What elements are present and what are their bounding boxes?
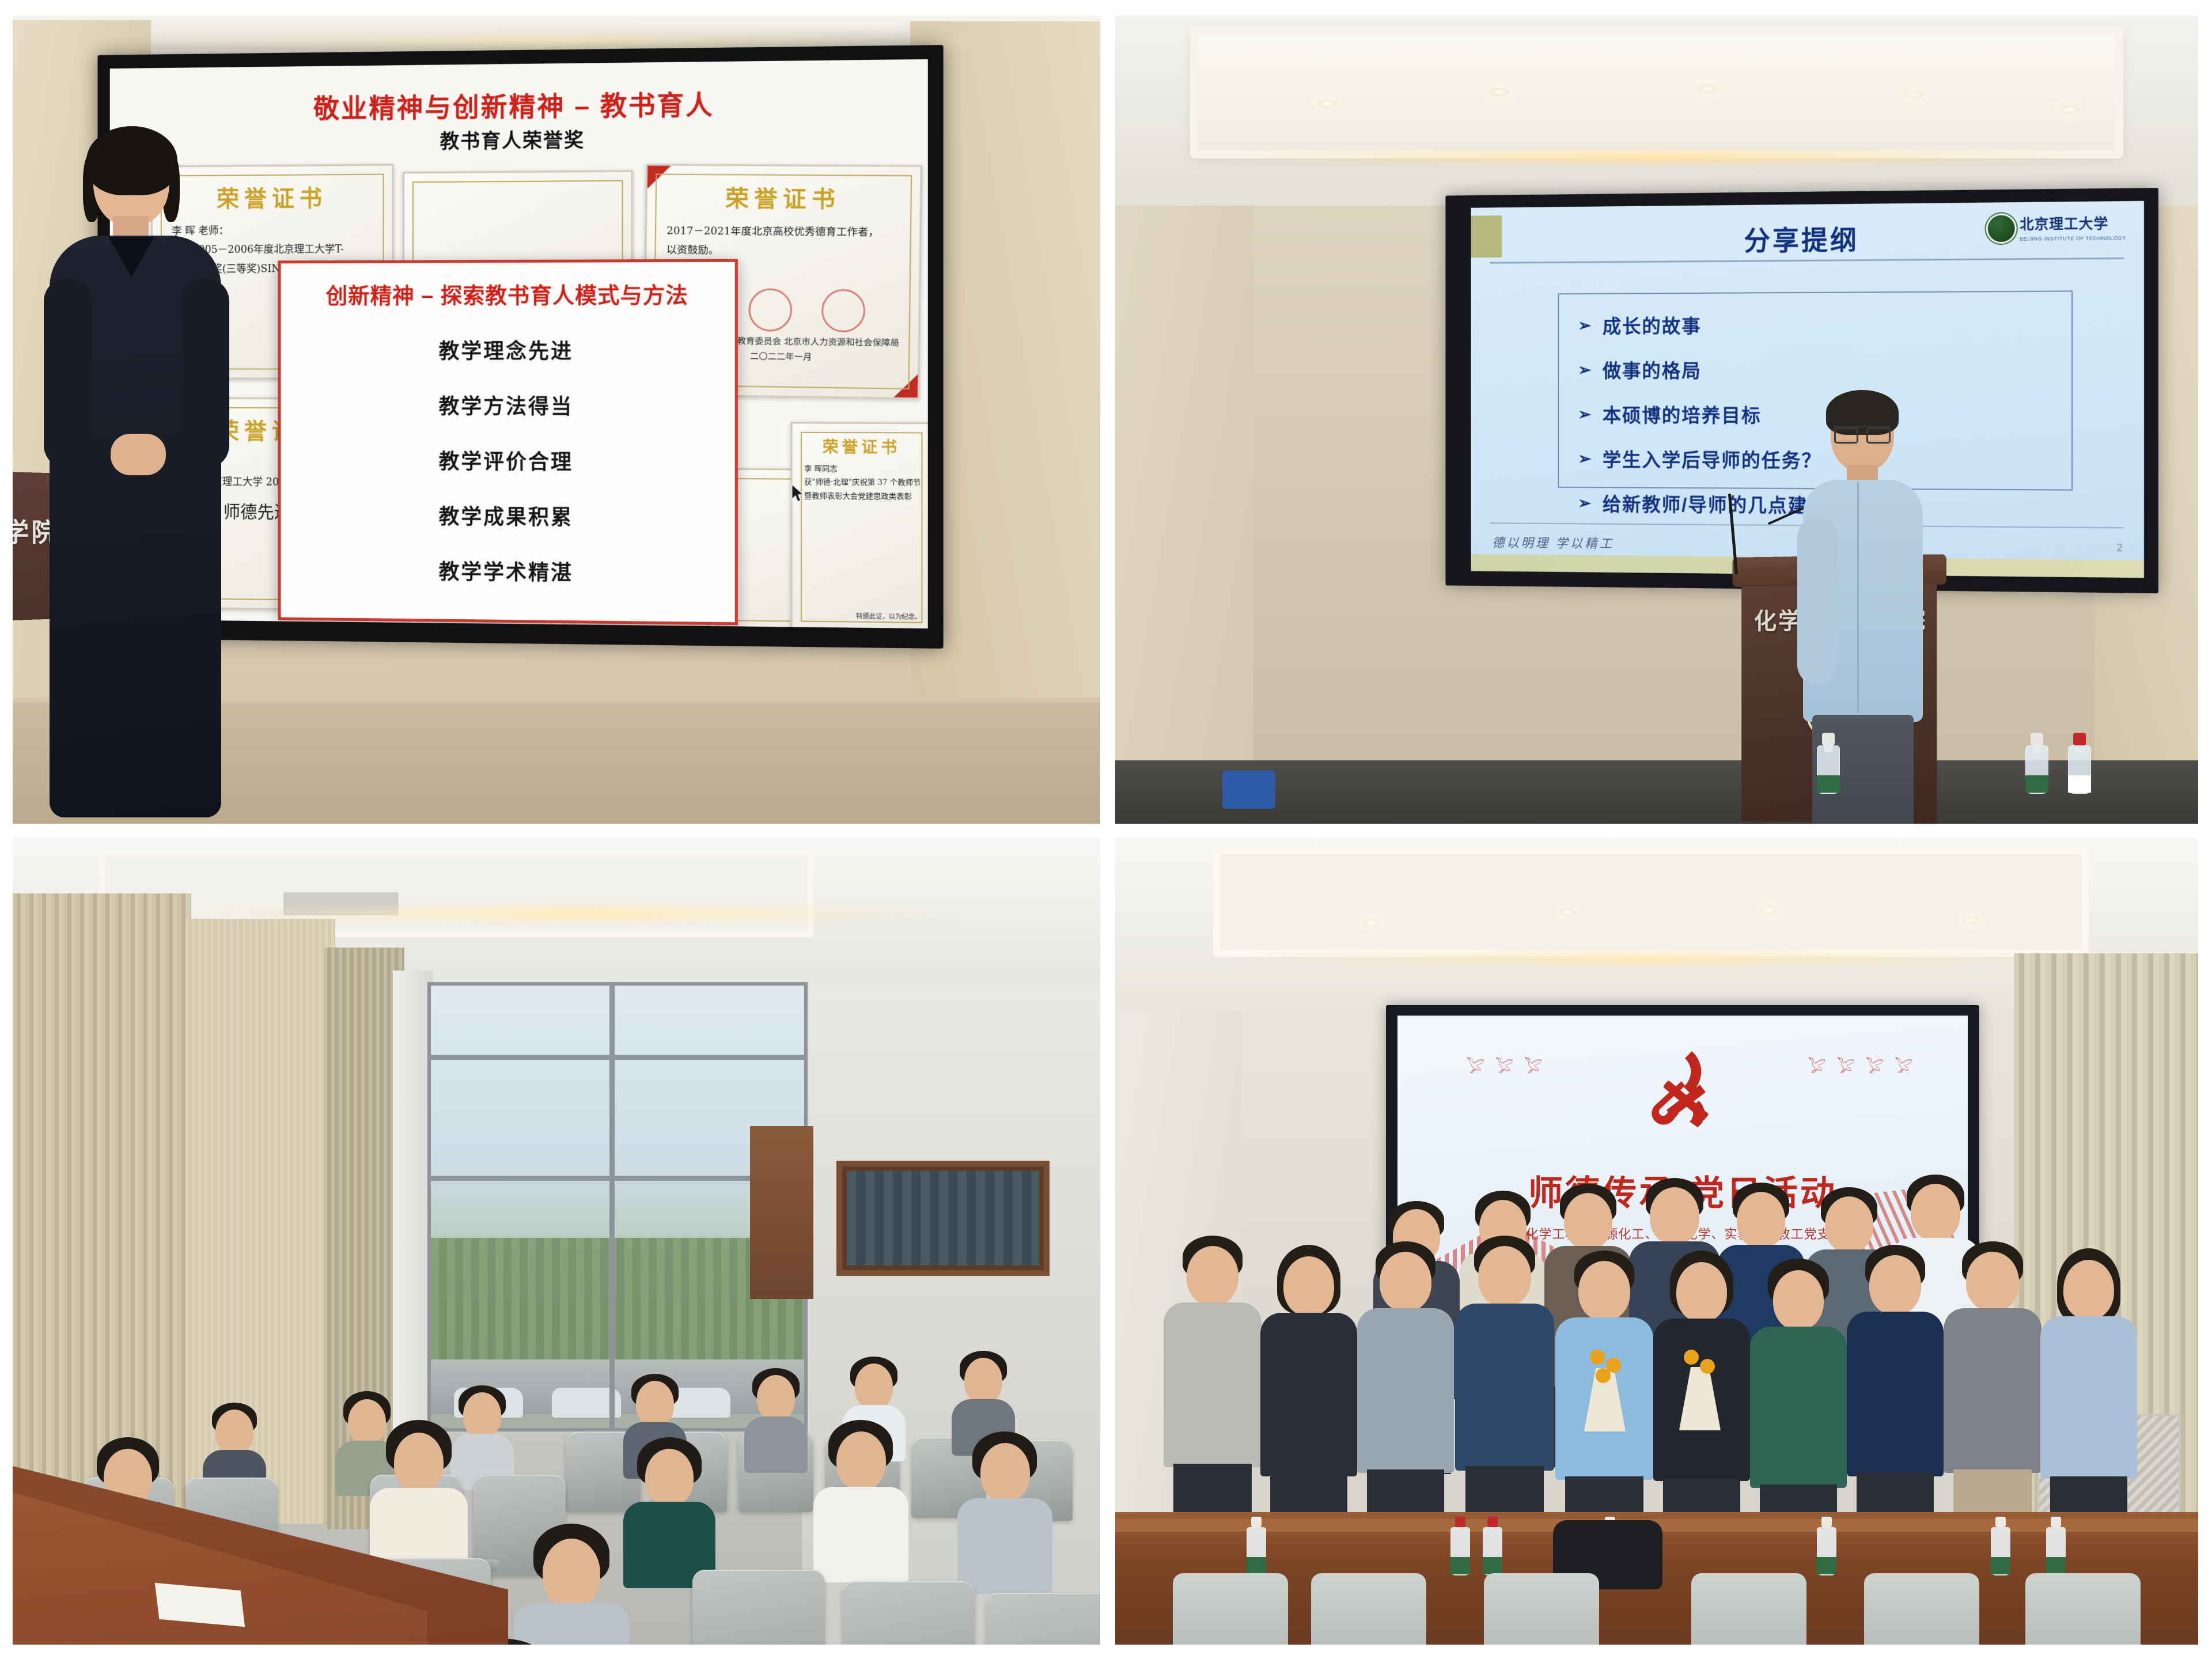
certificate-body: 2017－2021年度北京高校优秀德育工作者， 以资鼓励。 bbox=[666, 221, 904, 262]
head bbox=[1478, 1246, 1531, 1307]
university-badge-icon bbox=[1988, 215, 2015, 242]
head bbox=[980, 1443, 1030, 1502]
photo-panel-bottom-right: 𓅯 𓅯 𓅯 𓅯 𓅯 𓅯 𓅯 师德传承·党日活动 —— bbox=[1115, 838, 2198, 1645]
arrow-bullet-icon: ➢ bbox=[1578, 493, 1592, 512]
cove-light bbox=[203, 907, 963, 920]
head bbox=[543, 1539, 600, 1608]
bottle-label bbox=[1483, 1557, 1502, 1574]
certificate-image: 荣誉证书 李 晖同志 获"师德·北理"庆祝第 37 个教师节 暨教师表彰大会党建… bbox=[791, 422, 928, 628]
arm bbox=[44, 278, 92, 468]
water-bottle bbox=[1991, 1513, 2010, 1575]
glasses-icon bbox=[1834, 426, 1891, 438]
slide-subtitle: 教书育人荣誉奖 bbox=[110, 122, 928, 157]
certificate-title: 荣誉证书 bbox=[793, 434, 928, 457]
head bbox=[1676, 1262, 1727, 1322]
torso bbox=[1164, 1302, 1262, 1467]
torso bbox=[1750, 1327, 1847, 1488]
water-bottle bbox=[1817, 1513, 1836, 1575]
outline-item-label: 本硕博的培养目标 bbox=[1603, 400, 1762, 428]
bouquet bbox=[1570, 1345, 1639, 1431]
outline-item-label: 学生入学后导师的任务？ bbox=[1603, 445, 1822, 473]
dove-motif-icon: 𓅯 𓅯 𓅯 bbox=[1467, 1054, 1546, 1078]
hands bbox=[111, 434, 166, 475]
group-member bbox=[1164, 1236, 1262, 1558]
torso bbox=[2040, 1316, 2137, 1479]
arrow-bullet-icon: ➢ bbox=[1578, 404, 1592, 423]
door[interactable] bbox=[750, 1126, 813, 1299]
party-emblem-icon bbox=[1637, 1046, 1729, 1146]
torso bbox=[1260, 1313, 1357, 1476]
logo-name: 北京理工大学 bbox=[2020, 211, 2126, 233]
overlay-heading: 创新精神 – 探索教书育人模式与方法 bbox=[281, 277, 734, 310]
water-bottle bbox=[1247, 1513, 1266, 1575]
downlight-icon bbox=[1697, 85, 1717, 93]
arrow-bullet-icon: ➢ bbox=[1578, 360, 1592, 379]
head bbox=[1966, 1252, 2019, 1312]
shirt-placket bbox=[1857, 482, 1859, 713]
bottle-cap bbox=[1821, 1517, 1832, 1527]
bottle-label bbox=[2046, 1557, 2066, 1574]
flower-icon bbox=[1700, 1359, 1715, 1374]
certificate-line: 2017－2021年度北京高校优秀德育工作者， bbox=[666, 221, 904, 243]
speaker-person bbox=[40, 134, 230, 824]
mouse-pointer-icon bbox=[791, 484, 806, 504]
head bbox=[2063, 1260, 2114, 1320]
led-display-screen: 敬业精神与创新精神 – 教书育人 教书育人荣誉奖 荣誉证书 李 晖 老师： 荣获… bbox=[110, 59, 928, 628]
bouquet-wrapper bbox=[1679, 1367, 1721, 1430]
slide-overlay-box: 创新精神 – 探索教书育人模式与方法 教学理念先进 教学方法得当 教学评价合理 … bbox=[278, 259, 738, 626]
overlay-item: 教学评价合理 bbox=[281, 444, 734, 476]
certificate-border bbox=[801, 432, 923, 623]
university-logo: 北京理工大学 BEIJING INSTITUTE OF TECHNOLOGY bbox=[1988, 211, 2126, 244]
overlay-item: 教学学术精湛 bbox=[281, 554, 734, 588]
downlight-icon bbox=[1490, 88, 1509, 96]
certificate-line: 获"师德·北理"庆祝第 37 个教师节 bbox=[804, 476, 921, 490]
attendee bbox=[370, 1420, 468, 1581]
head bbox=[757, 1375, 795, 1421]
bottle-cap bbox=[2031, 733, 2043, 745]
bottle-cap bbox=[1455, 1517, 1465, 1527]
meeting-chair[interactable] bbox=[1484, 1573, 1599, 1645]
overlay-item: 教学方法得当 bbox=[281, 389, 734, 421]
overlay-item: 教学成果积累 bbox=[281, 499, 734, 532]
bottle-cap bbox=[1822, 733, 1835, 745]
downlight-icon bbox=[1559, 908, 1576, 916]
bottle-label bbox=[1450, 1557, 1470, 1574]
bulletin-board bbox=[836, 1161, 1050, 1276]
bottle-cap bbox=[2051, 1517, 2061, 1527]
bottle-label bbox=[1247, 1557, 1266, 1574]
slide-page-number: 2 bbox=[2116, 542, 2122, 554]
attendee bbox=[957, 1431, 1052, 1593]
water-bottle bbox=[1450, 1513, 1470, 1575]
chair-back bbox=[1222, 771, 1275, 809]
outline-item: ➢ 做事的格局 bbox=[1578, 355, 2071, 383]
outline-item-label: 成长的故事 bbox=[1603, 311, 1702, 339]
photo-panel-top-left: 敬业精神与创新精神 – 教书育人 教书育人荣誉奖 荣誉证书 李 晖 老师： 荣获… bbox=[13, 16, 1100, 824]
hair bbox=[86, 126, 177, 195]
auditorium-seat[interactable] bbox=[842, 1581, 975, 1645]
water-bottle bbox=[2068, 732, 2091, 794]
head bbox=[463, 1392, 501, 1438]
head bbox=[636, 1381, 674, 1427]
bottle-cap bbox=[1487, 1517, 1498, 1527]
downlight-icon bbox=[1363, 919, 1380, 926]
certificate-footer: 特颁此证，以为纪念。 bbox=[856, 612, 921, 623]
attendee bbox=[813, 1420, 908, 1581]
meeting-chair[interactable] bbox=[1311, 1573, 1426, 1645]
bottle-label bbox=[1817, 775, 1840, 793]
photo-panel-top-right: 分享提纲 北京理工大学 BEIJING INSTITUTE OF TECHNOL… bbox=[1115, 16, 2198, 824]
downlight-icon bbox=[1760, 906, 1778, 914]
certificate-title: 荣誉证书 bbox=[647, 180, 920, 215]
cove-light bbox=[1225, 953, 2077, 965]
meeting-chair[interactable] bbox=[1691, 1573, 1806, 1645]
head bbox=[1737, 1192, 1785, 1248]
water-bottle bbox=[2046, 1513, 2066, 1575]
photo-collage: 敬业精神与创新精神 – 教书育人 教书育人荣誉奖 荣誉证书 李 晖 老师： 荣获… bbox=[0, 0, 2212, 1659]
head bbox=[1564, 1193, 1612, 1249]
bottle-label bbox=[2025, 775, 2048, 793]
head bbox=[215, 1410, 253, 1455]
bottle-label bbox=[1991, 1557, 2010, 1574]
certificate-line: 李 晖同志 bbox=[804, 462, 921, 476]
flower-icon bbox=[1590, 1350, 1605, 1365]
attendee bbox=[744, 1368, 808, 1472]
ceiling-recess bbox=[1213, 847, 2089, 957]
bottle-cap bbox=[1995, 1517, 2006, 1527]
certificate-footer-line: 特颁此证，以为纪念。 bbox=[856, 612, 921, 623]
bouquet bbox=[1665, 1344, 1734, 1430]
downlight-icon bbox=[1317, 100, 1336, 108]
head bbox=[855, 1363, 893, 1410]
head bbox=[836, 1431, 886, 1490]
meeting-chair[interactable] bbox=[2025, 1573, 2141, 1645]
overlay-item: 教学理念先进 bbox=[281, 335, 734, 365]
head bbox=[1380, 1252, 1431, 1312]
head bbox=[1650, 1187, 1699, 1245]
head bbox=[645, 1449, 694, 1506]
cove-light bbox=[1202, 151, 2112, 163]
torso bbox=[744, 1416, 808, 1473]
slide-title: 敬业精神与创新精神 – 教书育人 bbox=[110, 81, 928, 127]
window-mullion bbox=[609, 986, 615, 1428]
downlight-icon bbox=[1962, 916, 1979, 924]
attendee bbox=[623, 1437, 715, 1587]
bulletin-board-inner bbox=[847, 1171, 1039, 1266]
window-mullion bbox=[431, 1176, 804, 1181]
certificate-body: 李 晖同志 获"师德·北理"庆祝第 37 个教师节 暨教师表彰大会党建思政类表彰 bbox=[804, 462, 921, 503]
water-bottle bbox=[1483, 1513, 1502, 1575]
downlight-icon bbox=[2060, 105, 2080, 113]
head bbox=[964, 1358, 1002, 1404]
slide-motto: 德以明理 学以精工 bbox=[1492, 533, 1614, 552]
downlight-icon bbox=[1904, 90, 1924, 99]
outline-item-label: 给新教师/导师的几点建议 bbox=[1603, 489, 1828, 518]
head bbox=[394, 1433, 444, 1493]
logo-subname: BEIJING INSTITUTE OF TECHNOLOGY bbox=[2020, 235, 2126, 242]
flower-icon bbox=[1684, 1350, 1699, 1365]
head bbox=[1911, 1184, 1960, 1241]
torso bbox=[957, 1498, 1052, 1594]
head bbox=[1869, 1255, 1921, 1315]
head bbox=[1773, 1270, 1824, 1330]
attendee bbox=[514, 1524, 629, 1645]
meeting-chair[interactable] bbox=[1173, 1573, 1288, 1645]
curtain-left bbox=[13, 893, 191, 1527]
outline-item-label: 做事的格局 bbox=[1603, 355, 1702, 383]
head bbox=[1578, 1261, 1630, 1321]
ceiling-recess bbox=[1190, 26, 2123, 158]
meeting-chair[interactable] bbox=[1864, 1573, 1979, 1645]
arrow-bullet-icon: ➢ bbox=[1578, 316, 1592, 335]
auditorium-seat[interactable] bbox=[692, 1570, 825, 1645]
outline-item: ➢ 成长的故事 bbox=[1578, 309, 2071, 339]
torso bbox=[813, 1487, 908, 1582]
head bbox=[1187, 1246, 1238, 1306]
certificate-line: 暨教师表彰大会党建思政类表彰 bbox=[804, 490, 921, 504]
torso bbox=[1455, 1304, 1554, 1471]
water-bottle bbox=[1817, 732, 1840, 794]
dove-motif-icon: 𓅯 𓅯 𓅯 𓅯 bbox=[1808, 1054, 1916, 1078]
bottle-cap bbox=[2073, 733, 2086, 745]
torso bbox=[1357, 1308, 1454, 1473]
water-bottle bbox=[2025, 732, 2048, 794]
bottle-label bbox=[2068, 775, 2091, 793]
bottle-label bbox=[1817, 1557, 1836, 1574]
arm bbox=[1797, 518, 1838, 685]
bottle-cap bbox=[1251, 1517, 1262, 1527]
head bbox=[1283, 1256, 1334, 1316]
trees-outside bbox=[431, 1238, 804, 1365]
photo-panel-bottom-left bbox=[13, 838, 1100, 1645]
torso bbox=[1847, 1312, 1944, 1476]
auditorium-seat[interactable] bbox=[986, 1593, 1100, 1645]
flower-icon bbox=[1596, 1368, 1611, 1383]
window-mullion bbox=[431, 1055, 804, 1060]
arrow-bullet-icon: ➢ bbox=[1578, 449, 1592, 468]
torso bbox=[1944, 1308, 2041, 1473]
arm bbox=[181, 278, 229, 468]
